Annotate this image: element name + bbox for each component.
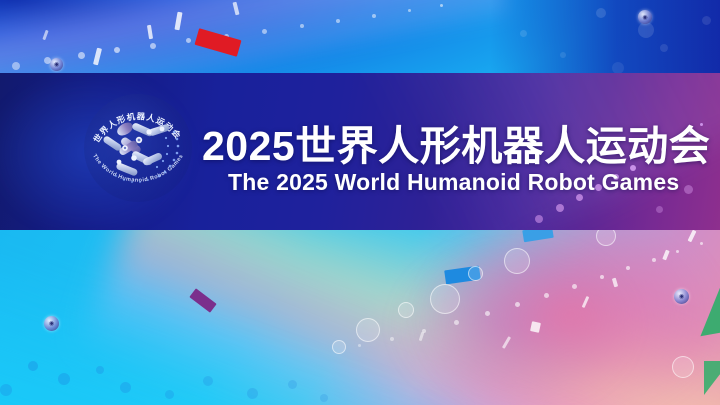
emblem-robot-figure xyxy=(78,88,198,208)
page-title-en: The 2025 World Humanoid Robot Games xyxy=(228,169,679,196)
circular-watermark-badge: ◉ xyxy=(674,289,689,304)
watermark-glyph: ◉ xyxy=(50,58,63,71)
event-key-visual: ◉ ◉ xyxy=(0,0,720,405)
watermark-glyph: ◉ xyxy=(638,10,652,24)
watermark-glyph: ◉ xyxy=(674,289,689,304)
watermark-glyph: ◉ xyxy=(44,316,59,331)
bottom-background-section: ◉ ◉ xyxy=(0,230,720,405)
world-humanoid-robot-games-emblem: 世界人形机器人运动会 The World Humanoid Robot Game… xyxy=(78,88,198,208)
circular-watermark-badge: ◉ xyxy=(50,58,63,71)
green-triangle-accent-secondary xyxy=(704,361,720,395)
page-title-cn: 2025世界人形机器人运动会 xyxy=(202,124,710,168)
circular-watermark-badge: ◉ xyxy=(44,316,59,331)
top-light-streak xyxy=(0,0,510,74)
circular-watermark-badge: ◉ xyxy=(638,10,652,24)
top-background-section: ◉ ◉ xyxy=(0,0,720,74)
title-band: 世界人形机器人运动会 The World Humanoid Robot Game… xyxy=(0,73,720,230)
